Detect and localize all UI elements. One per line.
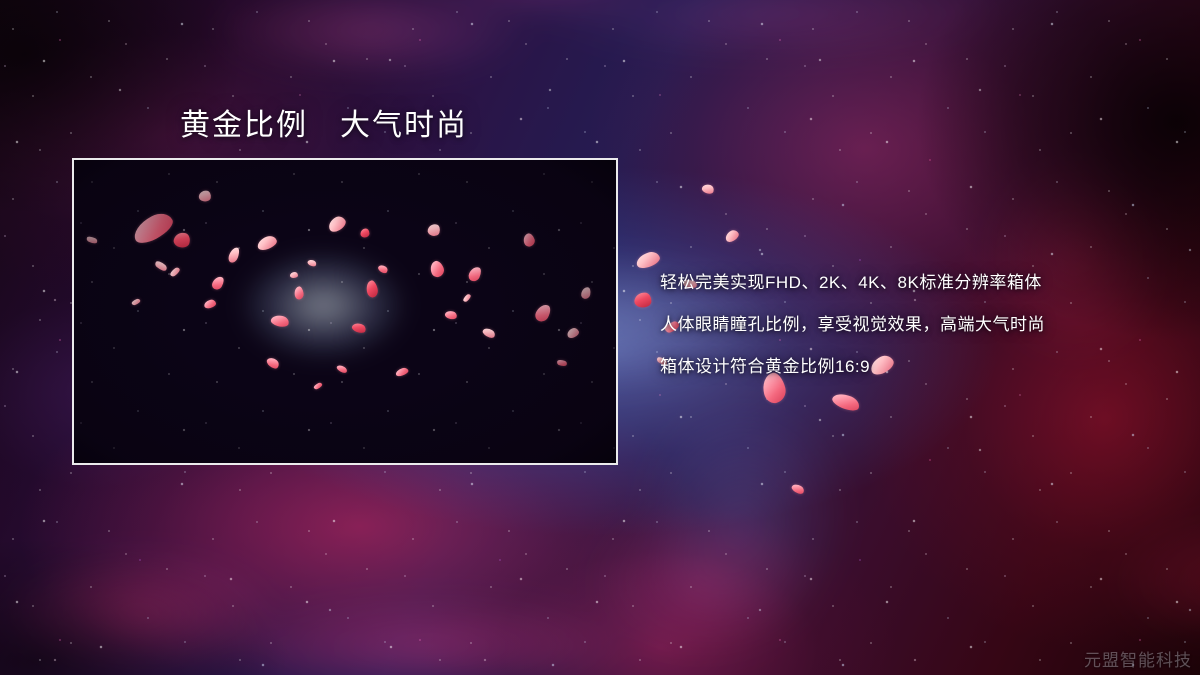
- body-line-2: 人体眼睛瞳孔比例，享受视觉效果，高端大气时尚: [660, 304, 1180, 346]
- flower-petal: [790, 483, 805, 496]
- body-line-3: 箱体设计符合黄金比例16:9: [660, 346, 1180, 388]
- slide-title: 黄金比例 大气时尚: [180, 100, 468, 144]
- presentation-slide: 黄金比例 大气时尚 轻松完美实现FHD、2K、4K、8K标准分辨率箱体 人体眼睛…: [0, 0, 1200, 675]
- company-watermark: 元盟智能科技: [1084, 646, 1192, 671]
- flower-petal: [634, 292, 652, 308]
- petals-in-galaxy-photo-frame: [72, 158, 618, 465]
- photo-inner-canvas: [74, 160, 616, 463]
- photo-vignette: [74, 160, 616, 463]
- flower-petal: [634, 250, 661, 271]
- flower-petal: [723, 228, 740, 244]
- body-line-1: 轻松完美实现FHD、2K、4K、8K标准分辨率箱体: [660, 262, 1180, 304]
- flower-petal: [830, 390, 861, 413]
- flower-petal: [701, 183, 715, 196]
- body-text-block: 轻松完美实现FHD、2K、4K、8K标准分辨率箱体 人体眼睛瞳孔比例，享受视觉效…: [660, 262, 1180, 388]
